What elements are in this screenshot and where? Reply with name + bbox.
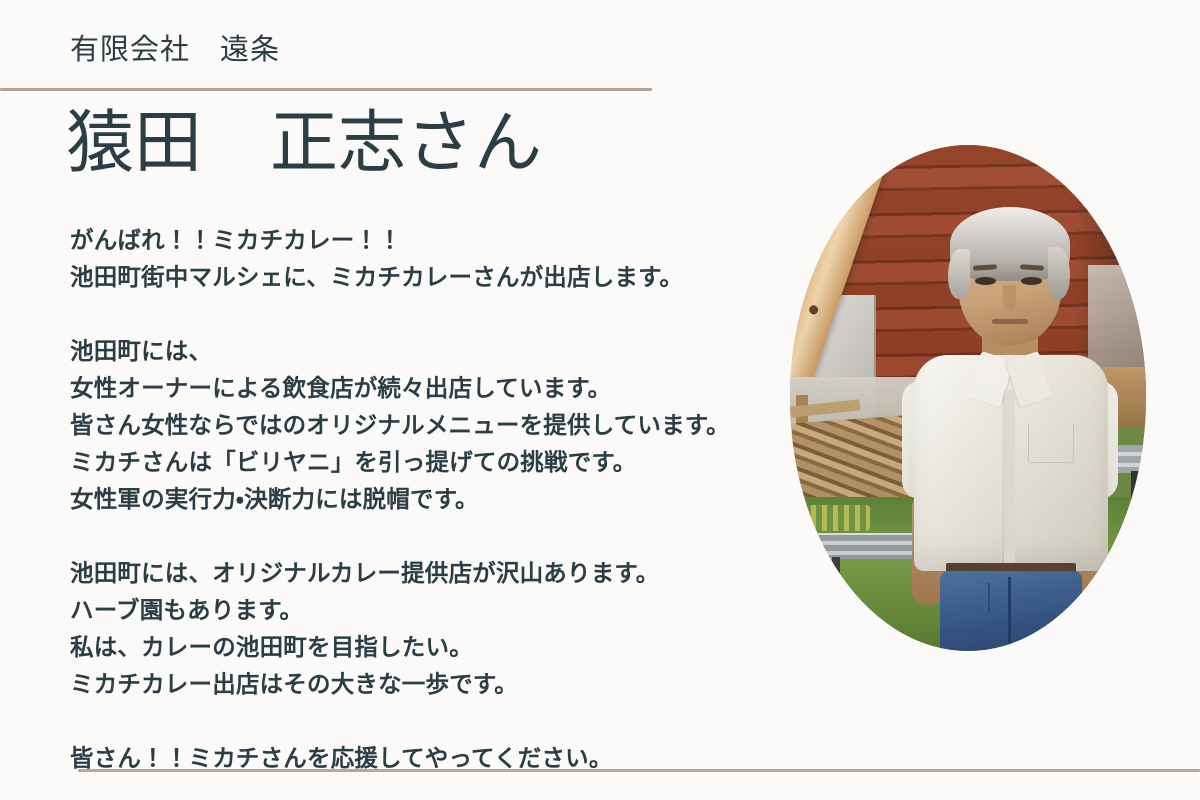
flower-patch [800,505,870,531]
beam-knot [808,304,819,315]
paragraph: 池田町には、オリジナルカレー提供店が沢山あります。 ハーブ園もあります。 私は、… [70,555,770,703]
profile-page: 有限会社 遠条 猿田 正志さん がんばれ！！ミカチカレー！！ 池田町街中マルシェ… [0,0,1200,800]
company-name: 有限会社 遠条 [70,33,280,68]
paragraph: 池田町には、 女性オーナーによる飲食店が続々出店しています。 皆さん女性ならでは… [70,333,770,518]
jeans-seam [1008,577,1011,651]
paragraph: がんばれ！！ミカチカレー！！ 池田町街中マルシェに、ミカチカレーさんが出店します… [70,222,770,296]
bench-right-leg2 [1131,471,1140,541]
divider-top [0,88,652,91]
hair-side-left [948,249,970,299]
page-title: 猿田 正志さん [66,108,542,179]
shirt-pocket [1028,423,1074,463]
person-figure [900,205,1120,651]
jeans-pocket [952,583,990,613]
eye-left [975,277,996,285]
divider-bottom [78,769,1200,772]
photo-scene [790,145,1146,651]
body-copy: がんばれ！！ミカチカレー！！ 池田町街中マルシェに、ミカチカレーさんが出店します… [70,222,770,777]
eye-right [1021,277,1042,285]
mouth [992,319,1028,324]
bench-left-leg [832,557,840,647]
nose [1003,285,1016,311]
shirt-placket [1004,391,1015,571]
portrait-photo [790,145,1146,651]
